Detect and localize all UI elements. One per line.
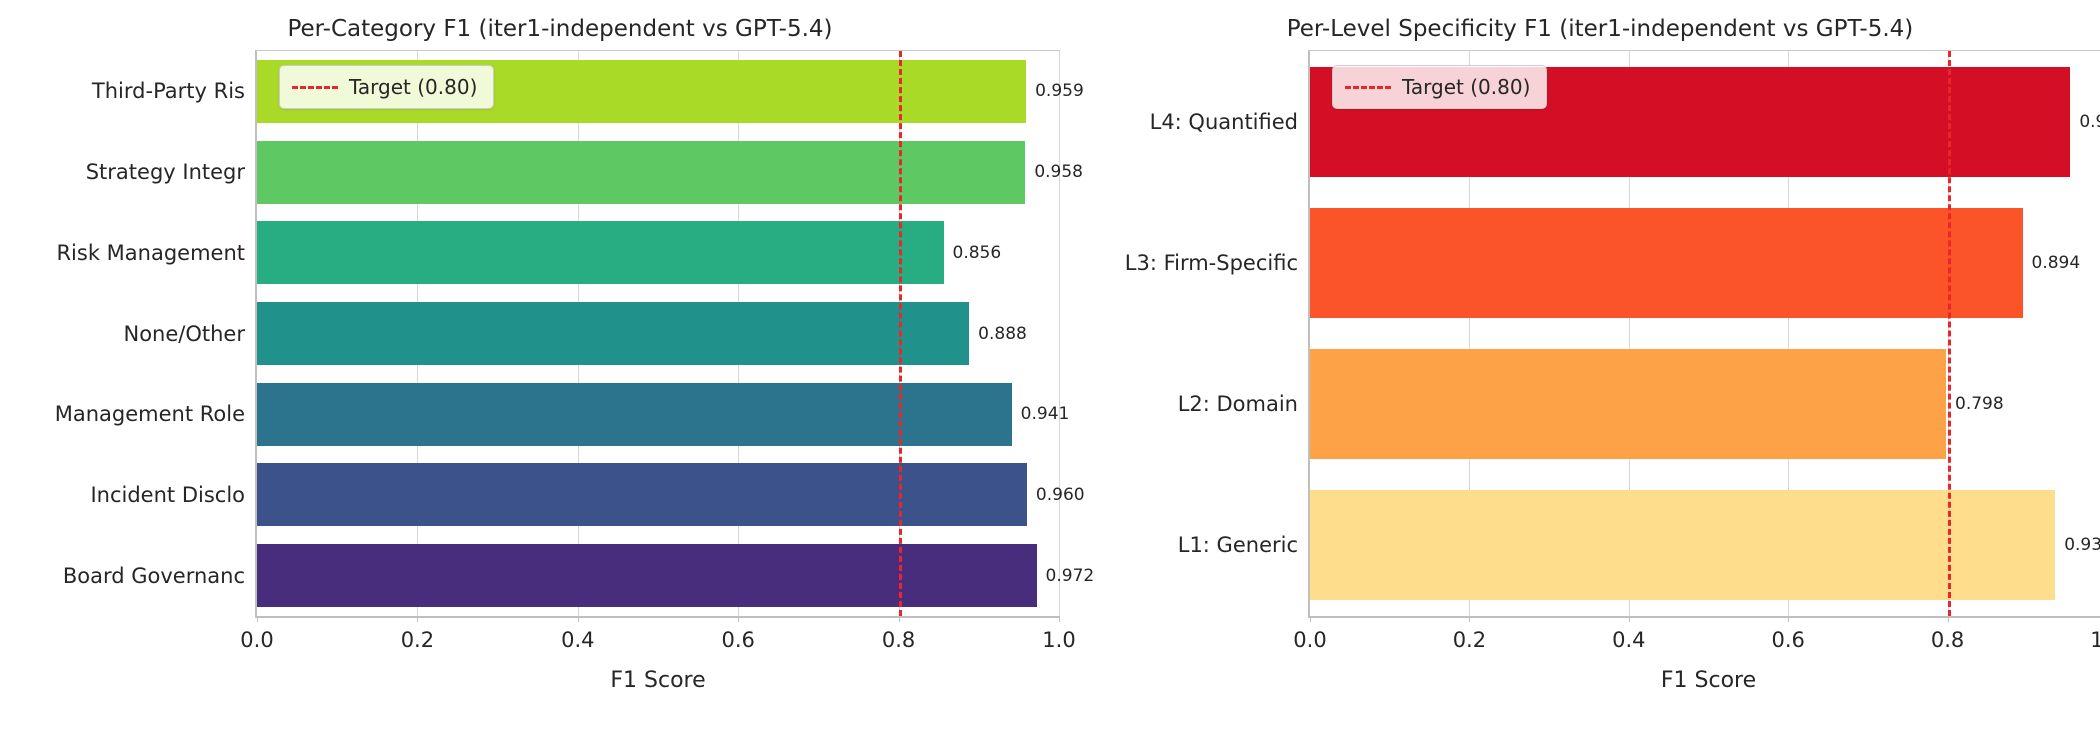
x-tick-mark — [738, 616, 739, 622]
bar-row — [1310, 490, 2055, 600]
y-tick-label: Incident Disclo — [90, 483, 245, 507]
y-tick-label: None/Other — [124, 322, 246, 346]
x-tick-label: 0.6 — [1771, 628, 1804, 652]
x-tick-label: 0.4 — [561, 628, 594, 652]
x-tick-mark — [257, 616, 258, 622]
plot-area-right: Target (0.80) F1 Score 0.00.20.40.60.81.… — [1308, 50, 2100, 618]
bar-value-label: 0.959 — [1026, 81, 1084, 101]
bar[interactable] — [1310, 349, 1946, 459]
y-tick-label: Risk Management — [56, 241, 245, 265]
bar-value-label: 0.856 — [944, 243, 1002, 263]
x-tick-label: 0.4 — [1612, 628, 1645, 652]
y-tick-label: L4: Quantified — [1150, 110, 1298, 134]
figure: Per-Category F1 (iter1-independent vs GP… — [0, 0, 2100, 750]
y-tick-label: L1: Generic — [1178, 533, 1298, 557]
x-tick-label: 0.2 — [401, 628, 434, 652]
y-tick-label: Management Role — [55, 402, 245, 426]
bar[interactable] — [257, 141, 1025, 204]
x-tick-mark — [1469, 616, 1470, 622]
bar[interactable] — [257, 544, 1037, 607]
x-tick-label: 1.0 — [2090, 628, 2100, 652]
x-tick-mark — [899, 616, 900, 622]
y-tick-label: Third-Party Ris — [92, 79, 245, 103]
legend-label-target: Target (0.80) — [349, 75, 477, 99]
x-tick-mark — [1948, 616, 1949, 622]
plot-area-left: Target (0.80) F1 Score 0.00.20.40.60.81.… — [255, 50, 1060, 618]
bar-value-label: 0.935 — [2055, 535, 2100, 555]
bar-value-label: 0.941 — [1012, 404, 1070, 424]
bar[interactable] — [1310, 490, 2055, 600]
bar-value-label: 0.972 — [1037, 566, 1095, 586]
x-tick-label: 0.0 — [1293, 628, 1326, 652]
panel-per-level: Per-Level Specificity F1 (iter1-independ… — [1050, 0, 2100, 750]
bar-value-label: 0.894 — [2023, 253, 2081, 273]
bar[interactable] — [1310, 208, 2023, 318]
x-tick-mark — [1629, 616, 1630, 622]
x-axis-label-right: F1 Score — [1310, 668, 2100, 693]
bar-row — [1310, 349, 1946, 459]
bar-row — [257, 302, 969, 365]
bar-value-label: 0.888 — [969, 324, 1027, 344]
x-axis-label-left: F1 Score — [257, 668, 1059, 693]
x-tick-label: 0.8 — [1931, 628, 1964, 652]
legend-left: Target (0.80) — [279, 65, 494, 109]
bar-row — [257, 463, 1027, 526]
y-tick-label: L2: Domain — [1178, 392, 1298, 416]
x-tick-mark — [578, 616, 579, 622]
y-tick-label: L3: Firm-Specific — [1125, 251, 1298, 275]
bar[interactable] — [257, 302, 969, 365]
bar-value-label: 0.958 — [1025, 162, 1083, 182]
x-tick-label: 0.6 — [721, 628, 754, 652]
bar-value-label: 0.954 — [2070, 112, 2100, 132]
x-tick-mark — [1788, 616, 1789, 622]
bar[interactable] — [257, 463, 1027, 526]
page-title-left: Per-Category F1 (iter1-independent vs GP… — [0, 16, 1050, 42]
bar-row — [257, 141, 1025, 204]
target-line-swatch-icon — [292, 86, 338, 89]
x-tick-label: 0.8 — [882, 628, 915, 652]
bar-row — [1310, 208, 2023, 318]
target-line-swatch-icon — [1345, 86, 1391, 89]
x-tick-label: 0.2 — [1453, 628, 1486, 652]
legend-label-target: Target (0.80) — [1402, 75, 1530, 99]
panel-per-category: Per-Category F1 (iter1-independent vs GP… — [0, 0, 1050, 750]
bar[interactable] — [257, 221, 944, 284]
bar-row — [257, 544, 1037, 607]
bar-row — [257, 221, 944, 284]
target-line — [1948, 51, 1951, 616]
y-tick-label: Strategy Integr — [86, 160, 245, 184]
x-tick-mark — [1310, 616, 1311, 622]
y-tick-label: Board Governanc — [63, 564, 245, 588]
x-tick-mark — [417, 616, 418, 622]
bar-value-label: 0.960 — [1027, 485, 1085, 505]
legend-right: Target (0.80) — [1332, 65, 1547, 109]
page-title-right: Per-Level Specificity F1 (iter1-independ… — [1050, 16, 2100, 42]
bar-value-label: 0.798 — [1946, 394, 2004, 414]
target-line — [899, 51, 902, 616]
x-tick-label: 0.0 — [240, 628, 273, 652]
